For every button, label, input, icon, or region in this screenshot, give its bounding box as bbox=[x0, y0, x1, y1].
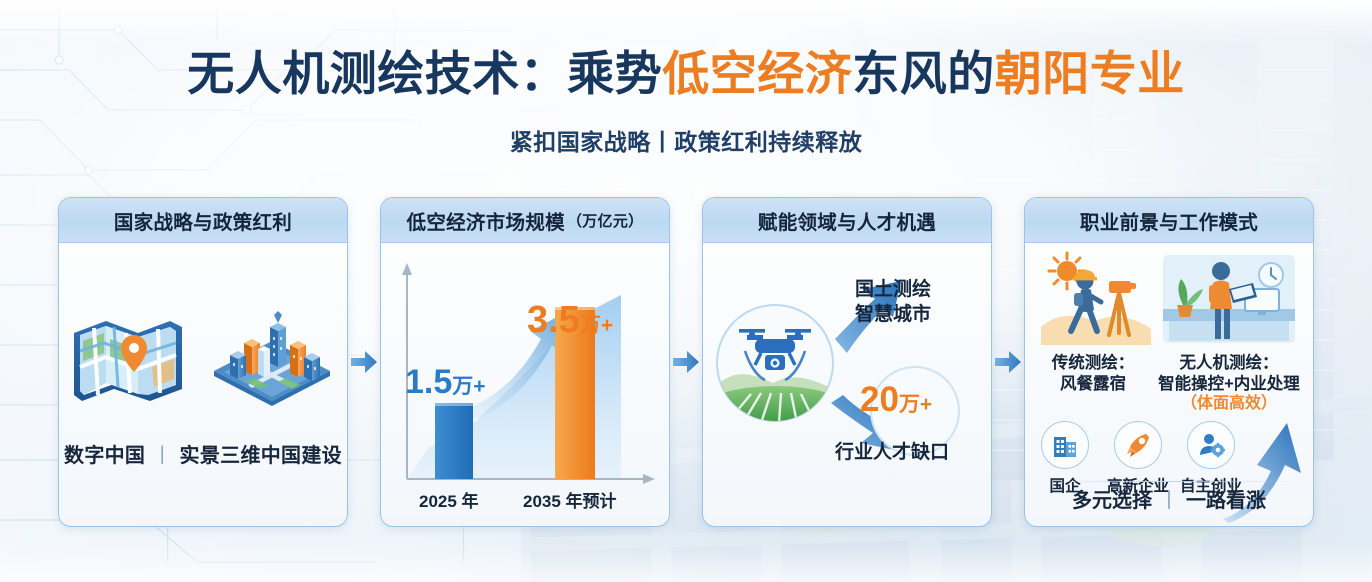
card4-footer-separator: 丨 bbox=[1159, 490, 1179, 512]
card4-right-line3: （体面高效） bbox=[1147, 394, 1311, 414]
card3-gap-number: 20 bbox=[860, 380, 899, 419]
card-national-strategy[interactable]: 国家战略与政策红利 bbox=[58, 197, 348, 527]
connector-1 bbox=[348, 197, 380, 527]
bar-label-2035: 3.5万+ bbox=[527, 301, 613, 339]
card1-caption: 数字中国丨实景三维中国建设 bbox=[59, 439, 347, 468]
card3-talent-gap-value: 20万+ bbox=[860, 380, 932, 420]
header: 无人机测绘技术：乘势低空经济东风的朝阳专业 紧扣国家战略丨政策红利持续释放 bbox=[0, 48, 1372, 157]
connector-3 bbox=[992, 197, 1024, 527]
card-body-national-strategy: 数字中国丨实景三维中国建设 bbox=[59, 243, 347, 526]
card-career-outlook[interactable]: 职业前景与工作模式 bbox=[1024, 197, 1314, 527]
card4-content: 传统测绘： 风餐露宿 无人机测绘： 智能操控+内业处理 （体面高效） bbox=[1025, 243, 1313, 526]
card4-footer-right: 一路看涨 bbox=[1186, 490, 1266, 512]
card-body-market-size: 1.5万+ 3.5万+ 2025 年 2035 年预计 bbox=[381, 243, 669, 526]
card4-left-line2: 风餐露宿 bbox=[1033, 374, 1153, 395]
card3-top-line1: 国土测绘 bbox=[855, 277, 931, 302]
card4-left-line1: 传统测绘： bbox=[1033, 353, 1153, 374]
card3-content: 国土测绘 智慧城市 20万+ 行业人才缺口 bbox=[703, 243, 991, 526]
card1-caption-left: 数字中国 bbox=[64, 445, 145, 467]
connector-2 bbox=[670, 197, 702, 527]
arrow-right-icon bbox=[671, 347, 701, 377]
card3-top-label: 国土测绘 智慧城市 bbox=[855, 277, 931, 327]
bar-value-2035: 3.5 bbox=[527, 299, 580, 341]
title-highlight-low-altitude-economy: 低空经济 bbox=[662, 47, 852, 100]
tripod-icon bbox=[1109, 293, 1129, 335]
card3-graphics bbox=[703, 243, 991, 526]
card4-footer-left: 多元选择 bbox=[1072, 490, 1152, 512]
card-body-enabling-fields: 国土测绘 智慧城市 20万+ 行业人才缺口 bbox=[703, 243, 991, 526]
card1-caption-separator: 丨 bbox=[152, 445, 172, 467]
market-size-bar-chart: 1.5万+ 3.5万+ 2025 年 2035 年预计 bbox=[381, 243, 669, 526]
bar-value-2025: 1.5 bbox=[405, 363, 452, 401]
y-axis-arrowhead bbox=[402, 263, 412, 275]
card4-right-line2: 智能操控+内业处理 bbox=[1147, 374, 1311, 395]
card4-left-caption: 传统测绘： 风餐露宿 bbox=[1033, 353, 1153, 394]
card1-illustrations bbox=[59, 295, 347, 423]
card-title: 低空经济市场规模 bbox=[407, 206, 565, 235]
x-tick-2035: 2035 年预计 bbox=[523, 487, 617, 512]
card-title: 赋能领域与人才机遇 bbox=[758, 206, 936, 235]
surveyor-field-icon bbox=[1031, 249, 1159, 353]
bar-2025 bbox=[435, 403, 473, 479]
card-header-career-outlook: 职业前景与工作模式 bbox=[1025, 198, 1313, 243]
card1-caption-right: 实景三维中国建设 bbox=[180, 445, 342, 467]
badge-ring bbox=[1114, 421, 1162, 469]
isometric-city-icon bbox=[208, 305, 336, 413]
arrow-right-icon bbox=[993, 347, 1023, 377]
card4-right-line1: 无人机测绘： bbox=[1147, 353, 1311, 374]
card-header-enabling-fields: 赋能领域与人才机遇 bbox=[703, 198, 991, 243]
wall-clock-icon bbox=[1259, 263, 1283, 287]
card-title: 国家战略与政策红利 bbox=[114, 206, 292, 235]
folded-map-icon bbox=[70, 309, 186, 409]
background-bottom-fade bbox=[0, 542, 1372, 582]
card-enabling-fields[interactable]: 赋能领域与人才机遇 bbox=[702, 197, 992, 527]
page-subtitle: 紧扣国家战略丨政策红利持续释放 bbox=[0, 123, 1372, 157]
bar-suffix-2035: 万+ bbox=[580, 314, 613, 337]
card4-right-caption: 无人机测绘： 智能操控+内业处理 （体面高效） bbox=[1147, 353, 1311, 414]
person-gear-icon bbox=[1197, 431, 1225, 459]
bar-suffix-2025: 万+ bbox=[452, 375, 485, 398]
arrow-right-icon bbox=[349, 347, 379, 377]
page-title: 无人机测绘技术：乘势低空经济东风的朝阳专业 bbox=[0, 48, 1372, 101]
badge-ring bbox=[1187, 421, 1235, 469]
card-title-unit: （万亿元） bbox=[567, 210, 644, 231]
card4-footer: 多元选择丨一路看涨 bbox=[1025, 484, 1313, 513]
card-header-market-size: 低空经济市场规模（万亿元） bbox=[381, 198, 669, 243]
x-axis-arrowhead bbox=[643, 474, 655, 484]
card-body-career-outlook: 传统测绘： 风餐露宿 无人机测绘： 智能操控+内业处理 （体面高效） bbox=[1025, 243, 1313, 526]
card3-top-line2: 智慧城市 bbox=[855, 302, 931, 327]
x-tick-2025: 2025 年 bbox=[419, 487, 479, 512]
title-prefix: 无人机测绘技术：乘势 bbox=[187, 47, 662, 100]
office-desk-icon bbox=[1153, 249, 1303, 353]
title-highlight-sunrise-major: 朝阳专业 bbox=[995, 47, 1185, 100]
office-building-icon bbox=[1051, 431, 1079, 459]
card-market-size[interactable]: 低空经济市场规模（万亿元） bbox=[380, 197, 670, 527]
card3-gap-suffix: 万+ bbox=[899, 393, 932, 416]
bar-label-2025: 1.5万+ bbox=[405, 365, 486, 399]
card4-divider bbox=[1039, 481, 1299, 482]
badge-ring bbox=[1041, 421, 1089, 469]
rocket-icon bbox=[1124, 431, 1152, 459]
cards-row: 国家战略与政策红利 bbox=[0, 197, 1372, 527]
title-middle: 东风的 bbox=[852, 47, 995, 100]
background-top-fade bbox=[0, 0, 1372, 46]
card-title: 职业前景与工作模式 bbox=[1080, 206, 1258, 235]
card3-talent-gap-caption: 行业人才缺口 bbox=[835, 440, 949, 465]
card-header-national-strategy: 国家战略与政策红利 bbox=[59, 198, 347, 243]
